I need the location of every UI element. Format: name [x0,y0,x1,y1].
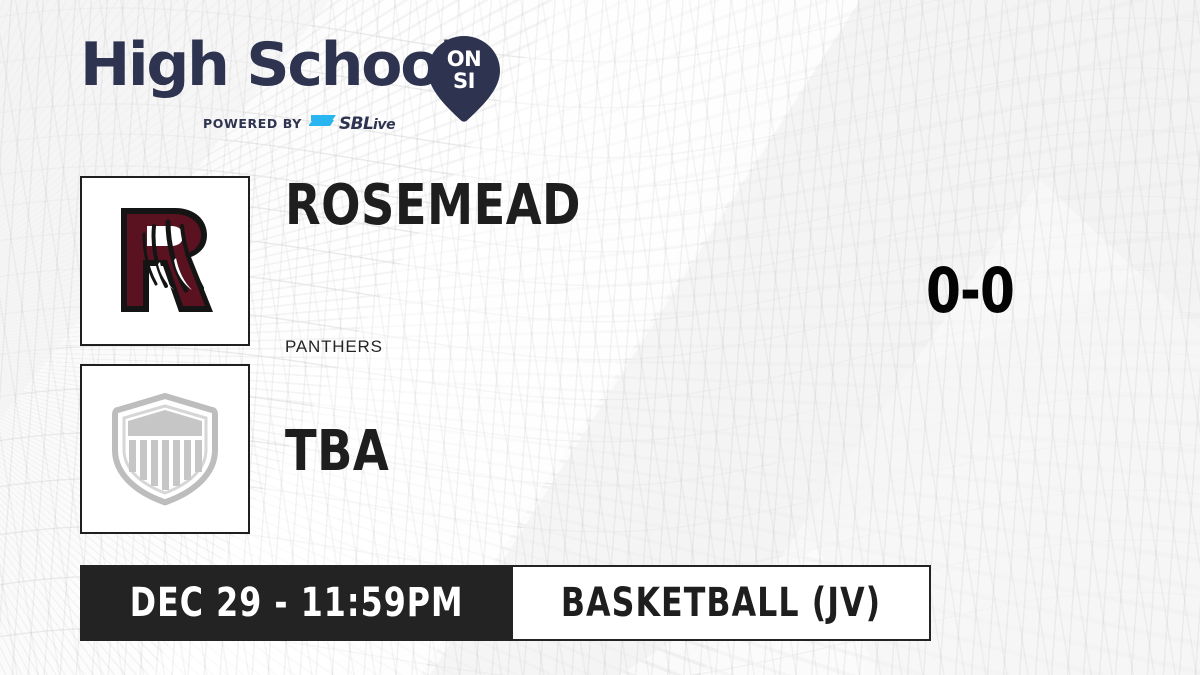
svg-text:SI: SI [453,69,475,93]
powered-by-lockup: POWERED BY SBL ive [203,112,413,134]
away-team-name: TBA [285,424,389,480]
home-team-logo-box [80,176,250,346]
game-datetime-label: DEC 29 - 11:59PM [130,582,464,624]
svg-text:ive: ive [373,117,395,133]
svg-text:SBL: SBL [339,114,373,134]
home-team-name: ROSEMEAD [285,178,581,234]
brand-lockup: High School ON SI POWERED BY SBL ive [80,34,510,134]
game-sport-label: BASKETBALL (JV) [561,582,881,624]
shield-placeholder-icon [82,366,248,532]
score-display: 0-0 [880,258,1060,324]
brand-wordmark: High School [80,34,458,96]
sblive-logo-icon: SBL ive [309,112,413,134]
on-si-pin-icon: ON SI [427,36,501,122]
game-datetime-panel: DEC 29 - 11:59PM [80,565,513,641]
svg-text:ON: ON [447,47,481,71]
away-team-logo-box [80,364,250,534]
game-preview-card: High School ON SI POWERED BY SBL ive [0,0,1200,675]
game-sport-panel: BASKETBALL (JV) [513,565,931,641]
powered-by-label: POWERED BY [203,116,302,131]
home-team-mascot: PANTHERS [285,337,383,357]
game-info-bar: DEC 29 - 11:59PM BASKETBALL (JV) [80,565,931,641]
rosemead-r-claw-logo-icon [82,178,248,344]
